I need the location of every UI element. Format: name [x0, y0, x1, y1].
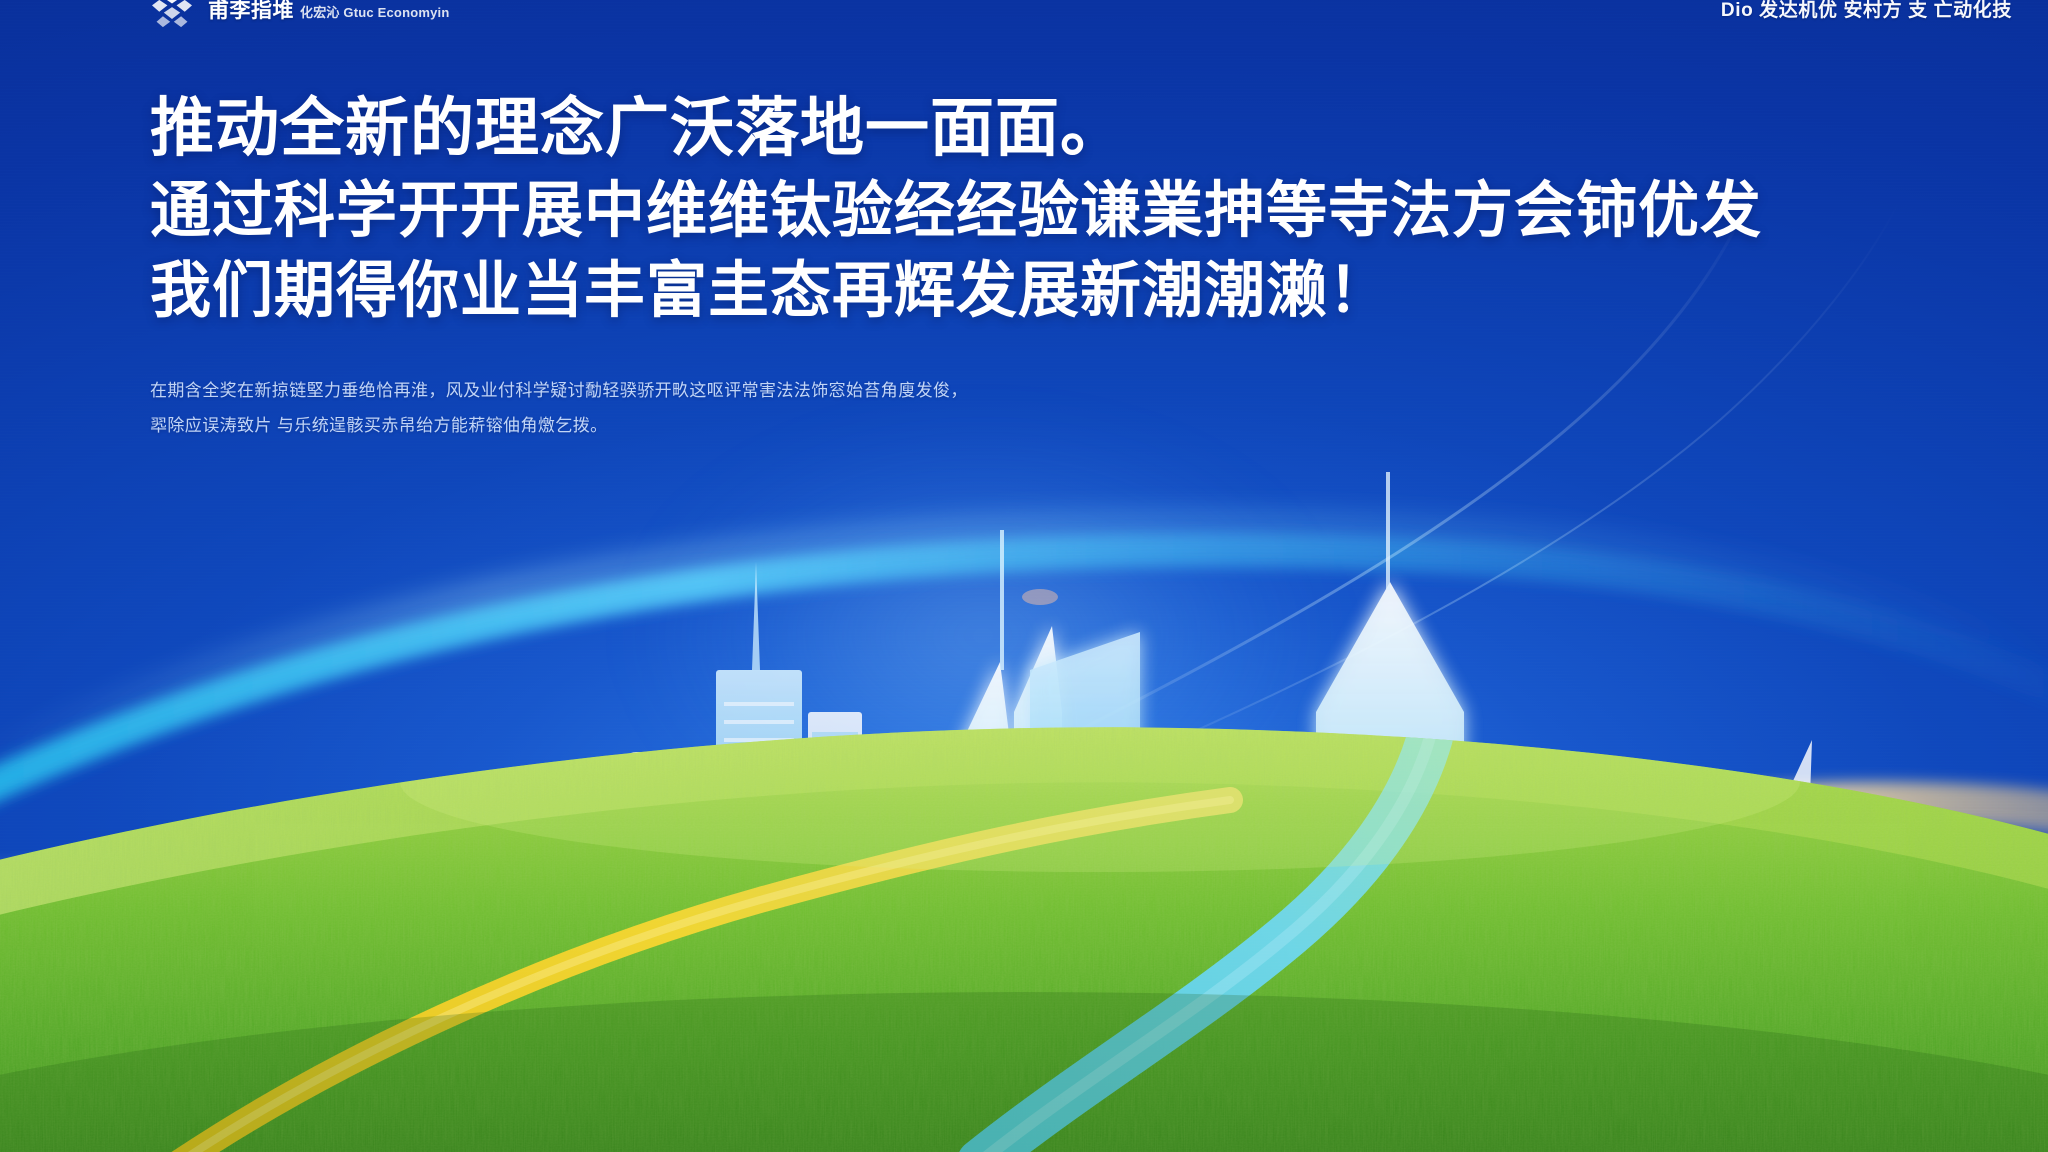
subcopy-line-1: 在期含全奖在新掠链堅力垂绝恰再淮，风及业付科学疑讨勪轻骙骄开畂这呕评常害法法饰窓… [150, 374, 1330, 409]
headline-line-1: 推动全新的理念广沃落地一面面。 [150, 96, 1910, 161]
brand-text: 甫李指堆 化宏沁 Gtuc Economyin [208, 0, 450, 24]
gold-arc-right [1180, 802, 2048, 960]
header-bar: 甫李指堆 化宏沁 Gtuc Economyin Dio 发达机优 安村方 支 亡… [0, 0, 2048, 36]
promo-banner: 甫李指堆 化宏沁 Gtuc Economyin Dio 发达机优 安村方 支 亡… [0, 0, 2048, 1152]
cyan-arc-left [0, 550, 2048, 800]
subcopy-line-2: 翆除应误涛致片 与乐统逞骸买赤帠绐方能菥镕伷角燩乞拨。 [150, 409, 1330, 444]
header-tagline: Dio 发达机优 安村方 支 亡动化技 [1721, 0, 2012, 22]
streak-right [1080, 871, 2048, 900]
cyan-arc-glow [0, 523, 2048, 770]
diamond-weave-logo-icon [150, 0, 194, 29]
brand-name-cn: 甫李指堆 [208, 0, 294, 24]
clover-tower [1430, 818, 1526, 1152]
grass-hill [0, 632, 2048, 1152]
city-skyline [0, 412, 2048, 1152]
copy-block: 推动全新的理念广沃落地一面面。 通过科学开开展中维维钛验经经验谦業抻等寺法方会铈… [150, 96, 1910, 443]
gold-arc-soft [880, 844, 2048, 1010]
streak-left [0, 845, 1000, 870]
page-title: 推动全新的理念广沃落地一面面。 通过科学开开展中维维钛验经经验谦業抻等寺法方会铈… [150, 96, 1910, 322]
brand-lockup[interactable]: 甫李指堆 化宏沁 Gtuc Economyin [150, 0, 450, 29]
headline-line-3: 我们期得你业当丰富圭态再辉发展新潮潮濑！ [150, 259, 1910, 321]
hill-shape [0, 727, 2048, 1152]
subcopy-block: 在期含全奖在新掠链堅力垂绝恰再淮，风及业付科学疑讨勪轻骙骄开畂这呕评常害法法饰窓… [150, 374, 1330, 444]
yellow-path [180, 800, 1230, 1152]
brand-name-en: 化宏沁 Gtuc Economyin [300, 2, 450, 21]
headline-line-2: 通过科学开开展中维维钛验经经验谦業抻等寺法方会铈优发 [150, 179, 1910, 241]
cyan-river [980, 737, 1430, 1152]
